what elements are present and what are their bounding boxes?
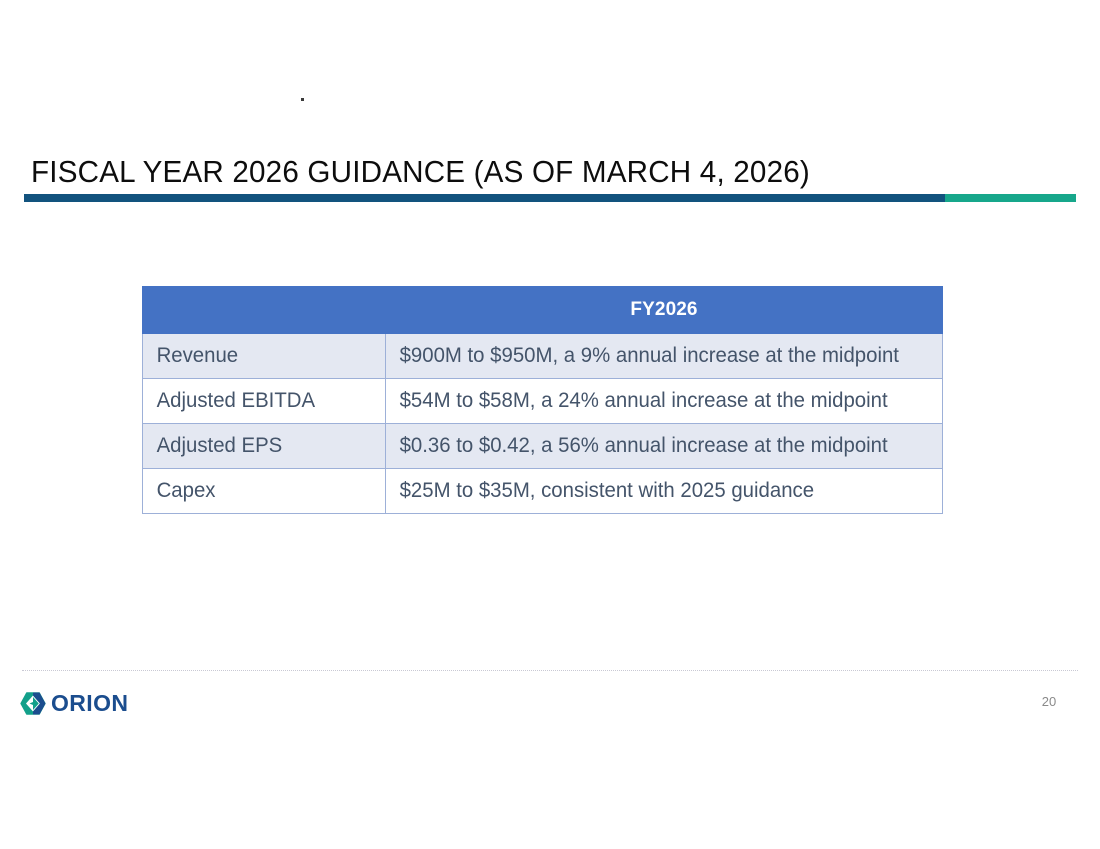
row-value-capex: $25M to $35M, consistent with 2025 guida… xyxy=(386,469,943,514)
row-value-adjusted-ebitda: $54M to $58M, a 24% annual increase at t… xyxy=(386,379,943,424)
table-row: Capex $25M to $35M, consistent with 2025… xyxy=(143,469,943,514)
page-number: 20 xyxy=(1034,694,1064,709)
page-title: FISCAL YEAR 2026 GUIDANCE (AS OF MARCH 4… xyxy=(31,152,810,192)
accent-rule-teal-segment xyxy=(945,194,1077,202)
table-body: Revenue $900M to $950M, a 9% annual incr… xyxy=(143,334,943,514)
accent-rule-navy-segment xyxy=(24,194,945,202)
stray-dot-artifact xyxy=(301,98,304,101)
guidance-table: FY2026 Revenue $900M to $950M, a 9% annu… xyxy=(142,286,943,514)
column-header-fy2026: FY2026 xyxy=(386,287,943,334)
title-accent-rule xyxy=(24,194,1076,202)
footer-divider xyxy=(22,670,1078,672)
row-label-revenue: Revenue xyxy=(143,334,386,379)
row-value-adjusted-eps: $0.36 to $0.42, a 56% annual increase at… xyxy=(386,424,943,469)
table-row: Adjusted EPS $0.36 to $0.42, a 56% annua… xyxy=(143,424,943,469)
row-label-adjusted-ebitda: Adjusted EBITDA xyxy=(143,379,386,424)
row-label-capex: Capex xyxy=(143,469,386,514)
row-value-revenue: $900M to $950M, a 9% annual increase at … xyxy=(386,334,943,379)
table-row: Revenue $900M to $950M, a 9% annual incr… xyxy=(143,334,943,379)
column-header-metric xyxy=(143,287,386,334)
orion-logo: ORION xyxy=(20,692,128,715)
table-header-row: FY2026 xyxy=(143,287,943,334)
orion-hexagon-icon xyxy=(20,692,46,715)
slide: FISCAL YEAR 2026 GUIDANCE (AS OF MARCH 4… xyxy=(0,0,1100,849)
row-label-adjusted-eps: Adjusted EPS xyxy=(143,424,386,469)
orion-wordmark: ORION xyxy=(51,692,128,715)
table-row: Adjusted EBITDA $54M to $58M, a 24% annu… xyxy=(143,379,943,424)
table-header: FY2026 xyxy=(143,287,943,334)
